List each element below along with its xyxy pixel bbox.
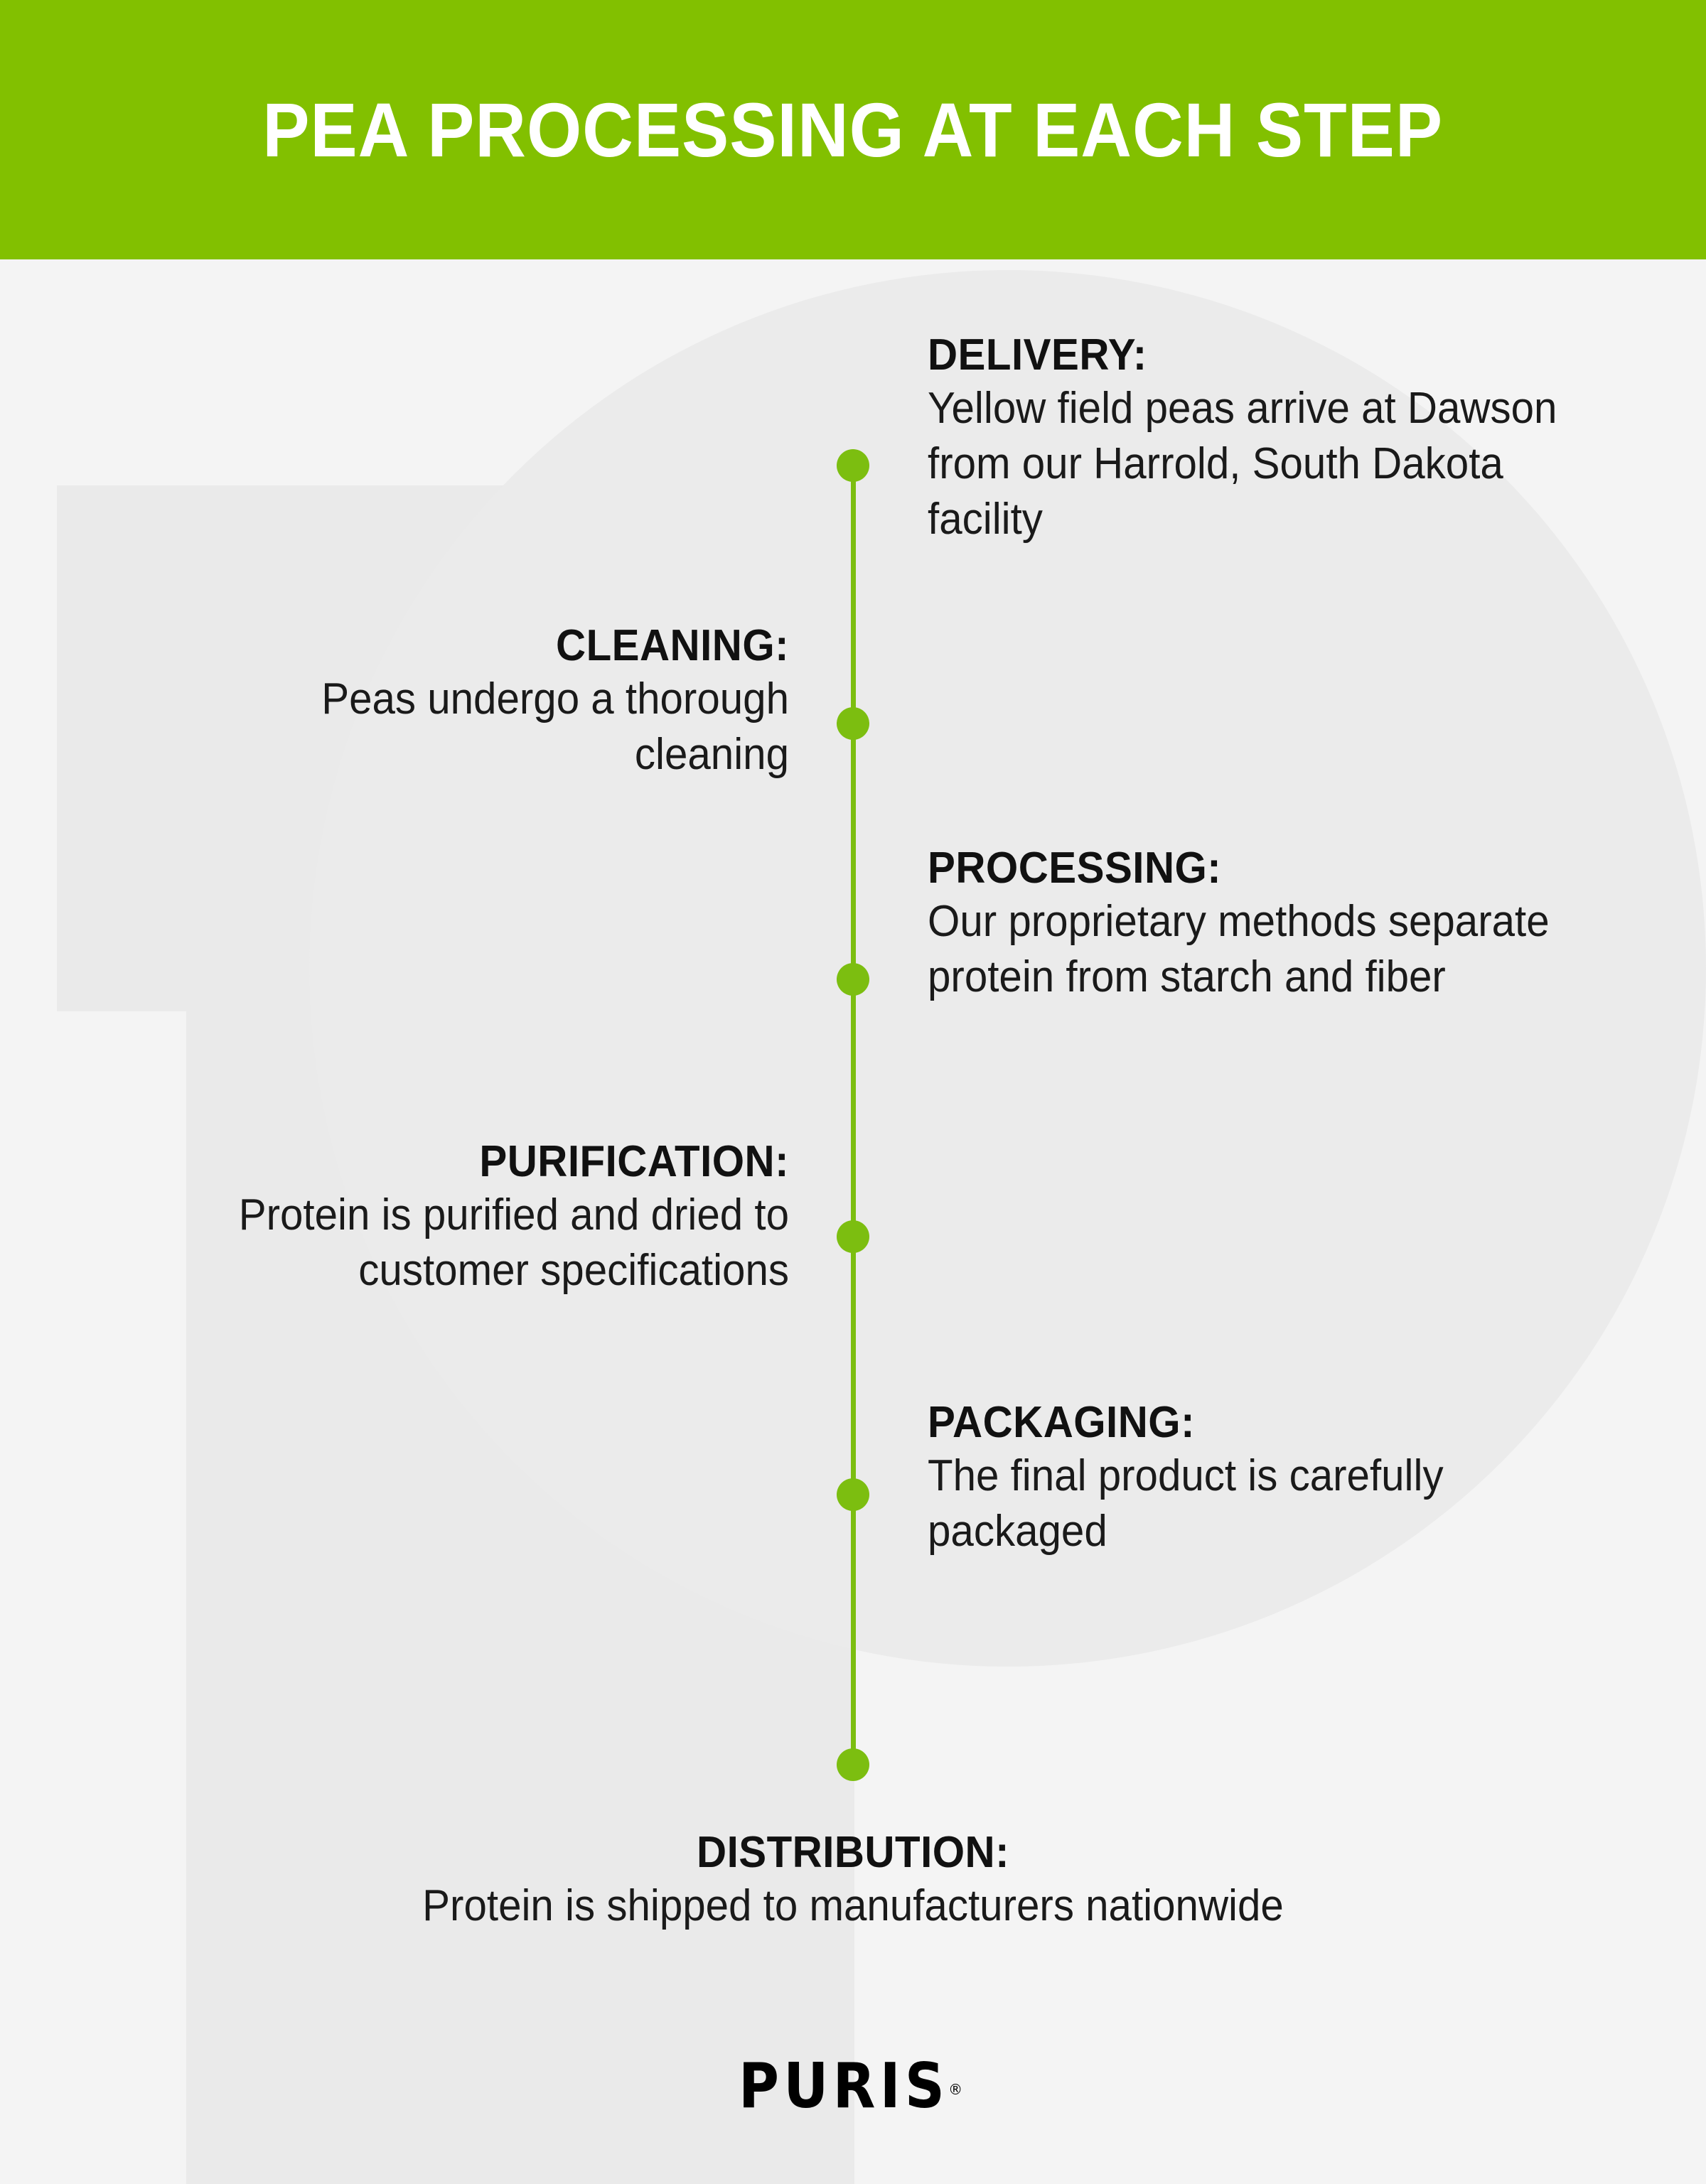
step-label-purification: PURIFICATION: xyxy=(114,1136,789,1188)
step-description-cleaning: Peas undergo a thorough cleaning xyxy=(215,672,789,782)
timeline-step-purification: PURIFICATION: Protein is purified and dr… xyxy=(71,1136,789,1298)
step-description-distribution: Protein is shipped to manufacturers nati… xyxy=(51,1878,1655,1934)
puris-wordmark: PURIS xyxy=(739,2050,949,2122)
infographic-canvas: PEA PROCESSING AT EACH STEP DELIVERY: Ye… xyxy=(0,0,1706,2184)
step-label-packaging: PACKAGING: xyxy=(928,1397,1529,1448)
page-title: PEA PROCESSING AT EACH STEP xyxy=(263,85,1444,174)
step-description-packaging: The final product is carefully packaged xyxy=(928,1448,1529,1559)
timeline-node-delivery xyxy=(837,449,869,482)
header-banner: PEA PROCESSING AT EACH STEP xyxy=(0,0,1706,259)
timeline-step-cleaning: CLEANING: Peas undergo a thorough cleani… xyxy=(178,620,789,782)
timeline-node-distribution xyxy=(837,1748,869,1781)
step-label-cleaning: CLEANING: xyxy=(215,620,789,672)
registered-trademark-icon: ® xyxy=(948,2081,962,2098)
timeline-node-processing xyxy=(837,963,869,996)
timeline-step-delivery: DELIVERY: Yellow field peas arrive at Da… xyxy=(928,329,1610,547)
step-label-processing: PROCESSING: xyxy=(928,842,1562,894)
timeline-step-packaging: PACKAGING: The final product is carefull… xyxy=(928,1397,1567,1559)
timeline-step-processing: PROCESSING: Our proprietary methods sepa… xyxy=(928,842,1603,1005)
timeline-node-packaging xyxy=(837,1478,869,1511)
step-description-purification: Protein is purified and dried to custome… xyxy=(114,1188,789,1298)
step-description-processing: Our proprietary methods separate protein… xyxy=(928,894,1562,1005)
step-label-distribution: DISTRIBUTION: xyxy=(51,1827,1655,1878)
numeral-one-flag-shape xyxy=(57,485,192,1011)
timeline-node-cleaning xyxy=(837,707,869,740)
step-description-delivery: Yellow field peas arrive at Dawson from … xyxy=(928,381,1569,547)
step-label-delivery: DELIVERY: xyxy=(928,329,1569,381)
timeline-spine xyxy=(851,466,856,1768)
timeline-node-purification xyxy=(837,1220,869,1253)
timeline-step-distribution: DISTRIBUTION: Protein is shipped to manu… xyxy=(0,1827,1706,1934)
footer-logo: PURIS ® xyxy=(0,2061,1706,2122)
